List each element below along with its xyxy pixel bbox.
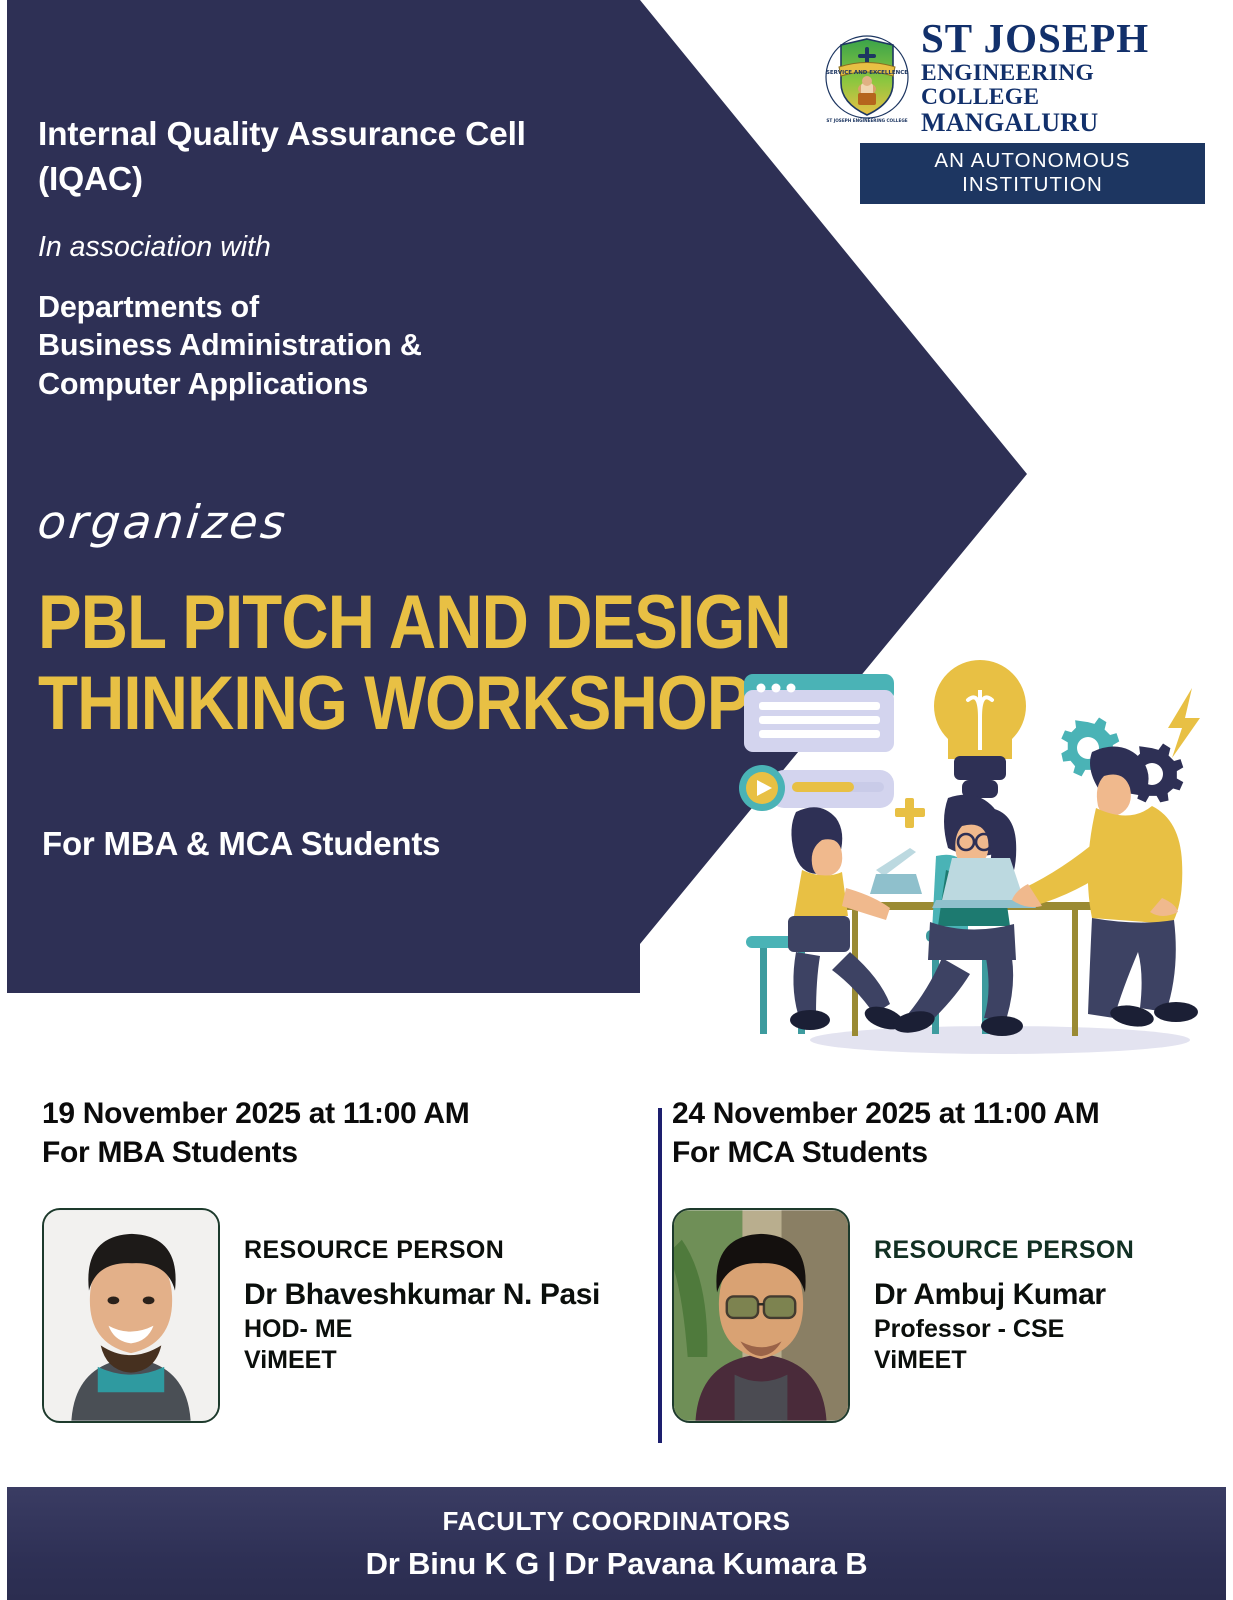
plus-icon: [895, 798, 925, 828]
session-info: RESOURCE PERSON Dr Bhaveshkumar N. Pasi …: [244, 1208, 600, 1423]
departments-line-1: Departments of: [38, 290, 259, 324]
departments-block: Departments of Business Administration &…: [38, 288, 638, 404]
logo-wordmark: ST JOSEPH ENGINEERING COLLEGE MANGALURU: [921, 18, 1205, 136]
resource-person-label: RESOURCE PERSON: [244, 1236, 600, 1265]
audience-subtitle: For MBA & MCA Students: [42, 825, 440, 863]
logo-top-row: SERVICE AND EXCELLENCE ST JOSEPH ENGINEE…: [825, 18, 1205, 136]
svg-text:SERVICE AND EXCELLENCE: SERVICE AND EXCELLENCE: [826, 70, 908, 76]
college-logo: SERVICE AND EXCELLENCE ST JOSEPH ENGINEE…: [825, 18, 1205, 204]
session-body: RESOURCE PERSON Dr Bhaveshkumar N. Pasi …: [42, 1208, 632, 1423]
video-player-icon: [739, 765, 894, 811]
association-line: In association with: [38, 231, 638, 264]
lightbulb-icon: [934, 660, 1026, 798]
speaker-photo-ambuj-kumar: [672, 1208, 850, 1423]
session-body: RESOURCE PERSON Dr Ambuj Kumar Professor…: [672, 1208, 1233, 1423]
audience-text: For MBA Students: [42, 1136, 298, 1169]
departments-line-2: Business Administration &: [38, 328, 422, 362]
date-text: 24 November 2025 at 11:00 AM: [672, 1097, 1099, 1130]
organizes-script-text: organizes: [35, 495, 290, 549]
speaker-institution: ViMEET: [874, 1346, 967, 1374]
session-info: RESOURCE PERSON Dr Ambuj Kumar Professor…: [874, 1208, 1134, 1423]
laptop-icon: [870, 848, 922, 894]
speaker-role: HOD- ME ViMEET: [244, 1314, 600, 1376]
date-text: 19 November 2025 at 11:00 AM: [42, 1097, 469, 1130]
svg-text:ST JOSEPH ENGINEERING COLLEGE: ST JOSEPH ENGINEERING COLLEGE: [826, 118, 907, 123]
autonomous-institution-ribbon: AN AUTONOMOUS INSTITUTION: [860, 143, 1205, 204]
audience-text: For MCA Students: [672, 1136, 928, 1169]
logo-line-2: ENGINEERING COLLEGE: [921, 62, 1205, 109]
team-collaboration-illustration: [700, 630, 1220, 1070]
session-date-mba: 19 November 2025 at 11:00 AM For MBA Stu…: [42, 1095, 632, 1172]
speaker-role-text: HOD- ME: [244, 1315, 352, 1343]
title-line-1: PBL PITCH AND DESIGN: [38, 583, 791, 664]
title-line-2: THINKING WORKSHOP: [38, 664, 791, 745]
speaker-role-text: Professor - CSE: [874, 1315, 1064, 1343]
speaker-institution: ViMEET: [244, 1346, 337, 1374]
session-divider: [658, 1108, 662, 1443]
session-mba: 19 November 2025 at 11:00 AM For MBA Stu…: [42, 1095, 632, 1455]
logo-line-3: MANGALURU: [921, 110, 1205, 136]
footer-bar: FACULTY COORDINATORS Dr Binu K G | Dr Pa…: [7, 1487, 1226, 1600]
lightning-bolt-icon: [1168, 688, 1200, 758]
browser-window-icon: [744, 674, 894, 752]
faculty-coordinators-label: FACULTY COORDINATORS: [442, 1506, 790, 1537]
speaker-name: Dr Ambuj Kumar: [874, 1278, 1134, 1312]
seated-person-glasses-laptop: [891, 795, 1036, 1036]
header-text-block: Internal Quality Assurance Cell (IQAC) I…: [38, 113, 638, 404]
sessions-section: 19 November 2025 at 11:00 AM For MBA Stu…: [0, 1095, 1233, 1465]
speaker-role: Professor - CSE ViMEET: [874, 1314, 1134, 1376]
resource-person-label: RESOURCE PERSON: [874, 1236, 1134, 1265]
session-mca: 24 November 2025 at 11:00 AM For MCA Stu…: [672, 1095, 1233, 1455]
iqac-title: Internal Quality Assurance Cell (IQAC): [38, 113, 638, 203]
faculty-coordinators-names: Dr Binu K G | Dr Pavana Kumara B: [366, 1546, 868, 1582]
departments-line-3: Computer Applications: [38, 367, 368, 401]
speaker-photo-bhaveshkumar-pasi: [42, 1208, 220, 1423]
page-title: PBL PITCH AND DESIGN THINKING WORKSHOP: [38, 583, 791, 744]
college-crest-shield-icon: SERVICE AND EXCELLENCE ST JOSEPH ENGINEE…: [825, 31, 909, 123]
session-date-mca: 24 November 2025 at 11:00 AM For MCA Stu…: [672, 1095, 1233, 1172]
speaker-name: Dr Bhaveshkumar N. Pasi: [244, 1278, 600, 1312]
logo-line-1: ST JOSEPH: [921, 18, 1205, 59]
